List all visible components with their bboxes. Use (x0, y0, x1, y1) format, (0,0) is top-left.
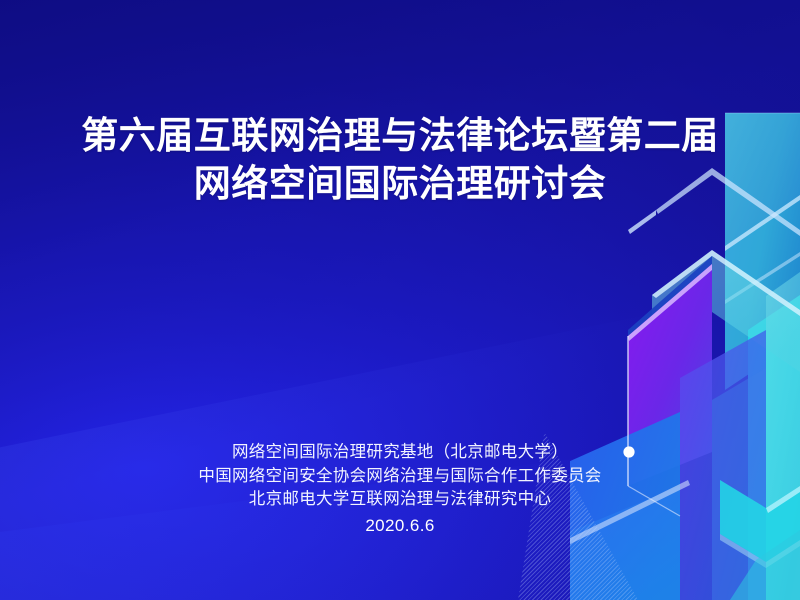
event-date: 2020.6.6 (0, 515, 800, 537)
organizer-line-2: 中国网络空间安全协会网络治理与国际合作工作委员会 (0, 464, 800, 488)
title-slide: 第六届互联网治理与法律论坛暨第二届 网络空间国际治理研讨会 网络空间国际治理研究… (0, 0, 800, 600)
organizer-block: 网络空间国际治理研究基地（北京邮电大学） 中国网络空间安全协会网络治理与国际合作… (0, 440, 800, 537)
organizer-line-3: 北京邮电大学互联网治理与法律研究中心 (0, 487, 800, 511)
organizer-line-1: 网络空间国际治理研究基地（北京邮电大学） (0, 440, 800, 464)
